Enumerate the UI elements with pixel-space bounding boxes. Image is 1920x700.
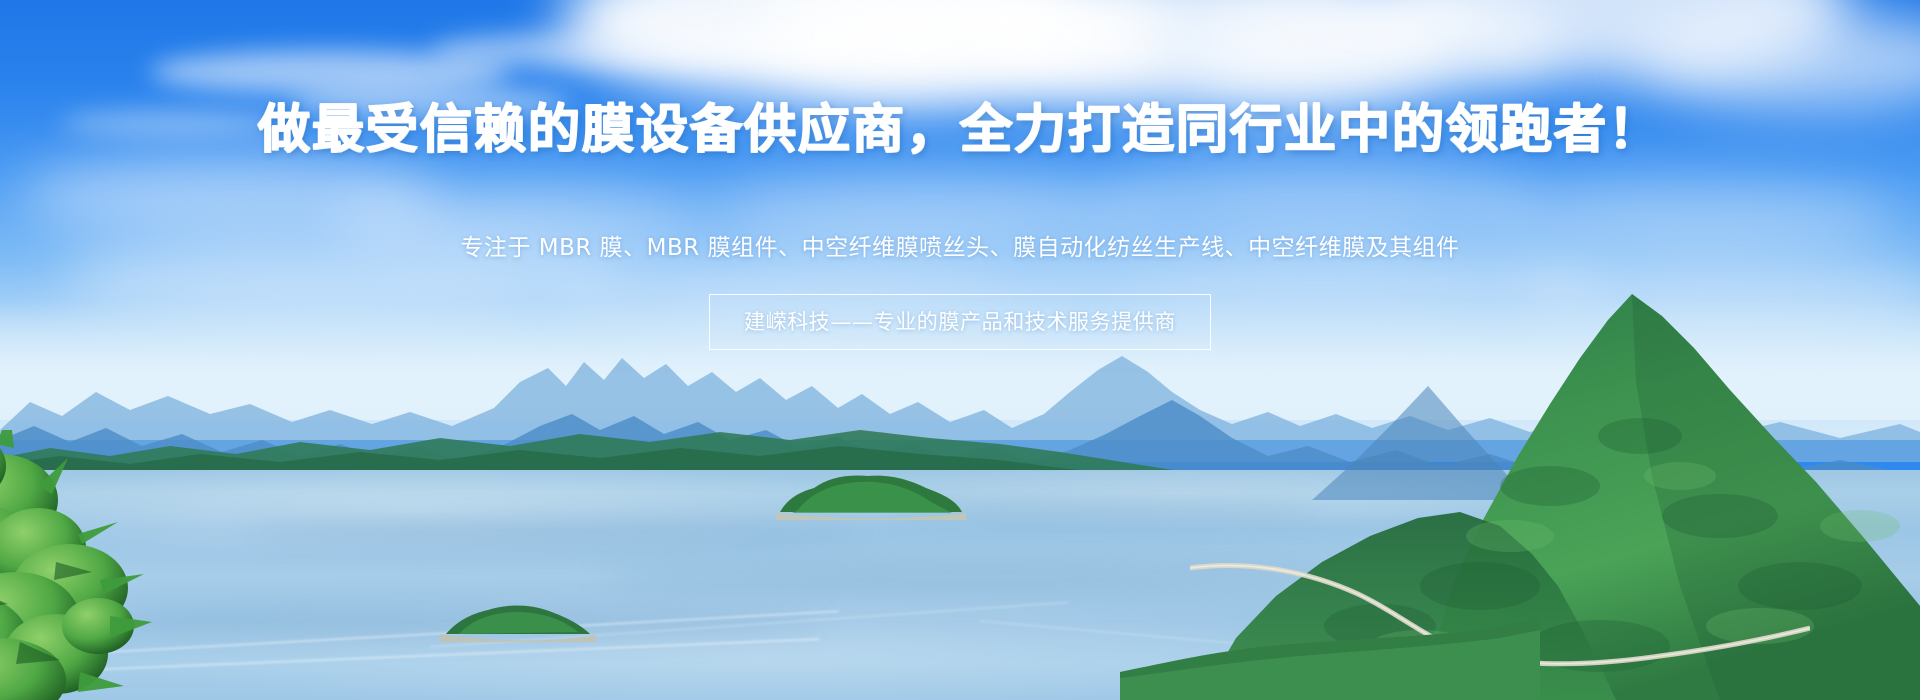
island-center — [776, 470, 966, 520]
right-shore — [1120, 612, 1540, 700]
banner-headline: 做最受信赖的膜设备供应商，全力打造同行业中的领跑者！ — [0, 100, 1920, 161]
banner-subtitle: 专注于 MBR 膜、MBR 膜组件、中空纤维膜喷丝头、膜自动化纺丝生产线、中空纤… — [0, 228, 1920, 262]
island-small-left — [440, 598, 596, 642]
hero-banner: 做最受信赖的膜设备供应商，全力打造同行业中的领跑者！ 专注于 MBR 膜、MBR… — [0, 0, 1920, 700]
banner-tagline-box: 建嵘科技——专业的膜产品和技术服务提供商 — [709, 294, 1211, 350]
tagline-container: 建嵘科技——专业的膜产品和技术服务提供商 — [0, 294, 1920, 350]
foreground-foliage — [0, 430, 260, 700]
